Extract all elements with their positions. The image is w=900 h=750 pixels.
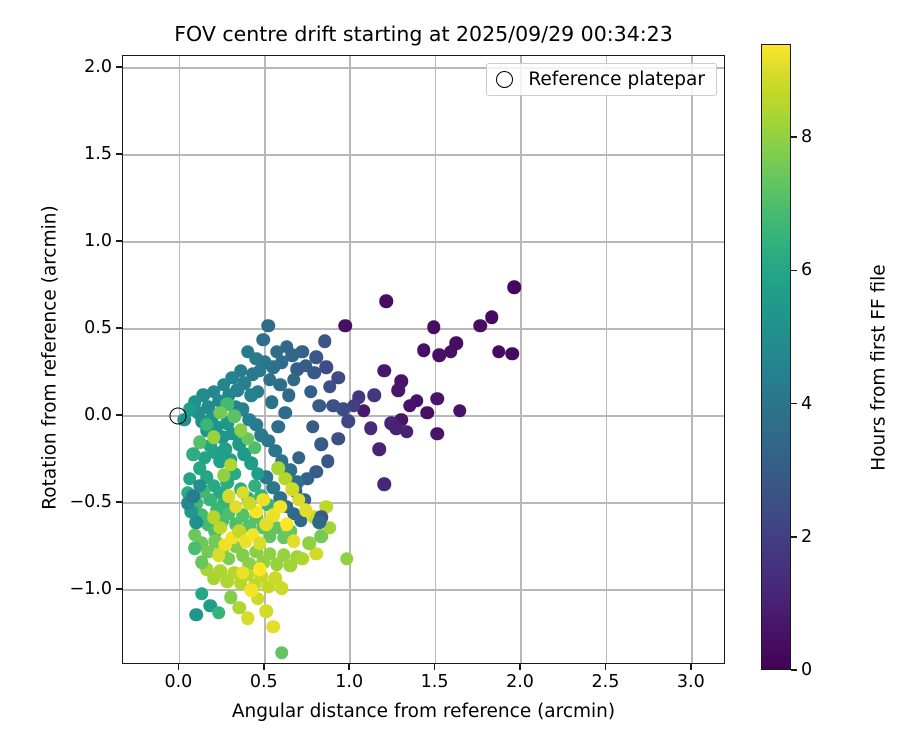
scatter-point: [417, 343, 431, 357]
scatter-point: [256, 493, 270, 507]
x-tick-2: [348, 664, 350, 670]
x-tick-6: [690, 664, 692, 670]
y-tick-label-2: 0.0: [84, 405, 112, 425]
scatter-point: [326, 399, 340, 413]
scatter-point: [364, 422, 378, 436]
scatter-point: [306, 420, 320, 434]
x-tick-0: [178, 664, 180, 670]
scatter-point: [186, 448, 200, 462]
plot-area: Reference platepar: [122, 55, 725, 664]
gridline-horizontal-3: [123, 328, 724, 330]
gridline-horizontal-5: [123, 154, 724, 156]
colorbar-tick-4: [791, 136, 797, 138]
scatter-point: [296, 552, 310, 566]
scatter-point: [200, 418, 214, 432]
x-tick-4: [519, 664, 521, 670]
y-tick-3: [116, 327, 122, 329]
scatter-point: [379, 295, 393, 309]
x-tick-label-2: 1.0: [335, 672, 363, 692]
colorbar-tick-0: [791, 669, 797, 671]
scatter-point: [304, 385, 318, 399]
scatter-point: [299, 503, 313, 517]
scatter-point: [243, 496, 257, 510]
scatter-point: [244, 583, 258, 597]
x-tick-label-3: 1.5: [421, 672, 449, 692]
scatter-point: [212, 549, 226, 563]
scatter-point: [261, 319, 275, 333]
y-tick-label-3: 0.5: [84, 318, 112, 338]
legend[interactable]: Reference platepar: [486, 63, 717, 96]
scatter-point: [378, 477, 392, 491]
scatter-point: [195, 556, 209, 570]
colorbar-tick-label-1: 2: [801, 527, 812, 547]
scatter-point: [287, 373, 301, 387]
scatter-point: [280, 517, 294, 531]
scatter-point: [236, 566, 250, 580]
colorbar-tick-label-2: 4: [801, 394, 812, 414]
y-tick-1: [116, 501, 122, 503]
x-tick-1: [263, 664, 265, 670]
colorbar: [761, 44, 791, 670]
gridline-horizontal-0: [123, 589, 724, 591]
scatter-point: [265, 396, 279, 410]
scatter-point: [314, 437, 328, 451]
scatter-point: [318, 335, 332, 349]
scatter-point: [260, 604, 274, 618]
x-tick-label-0: 0.0: [164, 672, 192, 692]
colorbar-tick-2: [791, 403, 797, 405]
y-tick-0: [116, 588, 122, 590]
scatter-point: [431, 392, 445, 406]
scatter-point: [227, 409, 241, 423]
scatter-point: [391, 383, 405, 397]
scatter-point: [270, 345, 284, 359]
scatter-point: [485, 310, 499, 324]
scatter-point: [400, 425, 414, 439]
scatter-point: [272, 420, 286, 434]
scatter-point: [507, 281, 521, 295]
scatter-point: [287, 535, 301, 549]
scatter-point: [427, 321, 441, 335]
scatter-point: [253, 536, 267, 550]
scatter-point: [372, 442, 386, 456]
scatter-point: [273, 500, 287, 514]
scatter-point: [321, 455, 335, 469]
x-tick-label-6: 3.0: [677, 672, 705, 692]
reference-platepar-marker: [169, 408, 186, 425]
scatter-point: [431, 427, 445, 441]
x-tick-3: [434, 664, 436, 670]
gridline-vertical-4: [520, 56, 522, 663]
scatter-point: [403, 399, 417, 413]
scatter-point: [207, 430, 221, 444]
scatter-point: [190, 608, 204, 622]
scatter-point: [241, 345, 255, 359]
scatter-point: [256, 333, 270, 347]
scatter-point: [420, 406, 434, 420]
scatter-point: [279, 406, 293, 420]
scatter-point: [234, 423, 248, 437]
x-axis-label: Angular distance from reference (arcmin): [122, 701, 725, 722]
scatter-point: [292, 451, 306, 465]
colorbar-tick-label-0: 0: [801, 660, 812, 680]
scatter-point: [320, 361, 334, 375]
scatter-point: [453, 404, 467, 418]
legend-open-circle-icon: [496, 71, 513, 88]
scatter-point: [338, 319, 352, 333]
y-tick-4: [116, 240, 122, 242]
y-tick-label-5: 1.5: [84, 144, 112, 164]
scatter-point: [188, 542, 202, 556]
scatter-point: [323, 380, 337, 394]
colorbar-tick-3: [791, 270, 797, 272]
gridline-vertical-2: [349, 56, 351, 663]
y-tick-5: [116, 153, 122, 155]
scatter-point: [378, 364, 392, 378]
y-tick-label-1: −0.5: [70, 492, 113, 512]
y-tick-2: [116, 414, 122, 416]
scatter-point: [342, 415, 356, 429]
gridline-vertical-0: [179, 56, 181, 663]
gridline-horizontal-4: [123, 241, 724, 243]
y-tick-label-0: −1.0: [70, 579, 113, 599]
x-tick-5: [605, 664, 607, 670]
scatter-point: [473, 319, 487, 333]
y-tick-6: [116, 66, 122, 68]
gridline-vertical-5: [606, 56, 608, 663]
scatter-point: [241, 611, 255, 625]
scatter-point: [367, 389, 381, 403]
colorbar-gradient: [762, 45, 790, 669]
y-tick-label-4: 1.0: [84, 231, 112, 251]
scatter-point: [267, 620, 281, 634]
colorbar-tick-1: [791, 536, 797, 538]
scatter-point: [244, 389, 258, 403]
y-tick-label-6: 2.0: [84, 57, 112, 77]
scatter-point: [313, 516, 327, 530]
scatter-point: [193, 479, 207, 493]
scatter-point: [222, 489, 236, 503]
scatter-point: [212, 606, 226, 620]
scatter-point: [224, 458, 238, 472]
gridline-vertical-6: [691, 56, 693, 663]
scatter-point: [331, 432, 345, 446]
scatter-point: [207, 510, 221, 524]
x-tick-label-5: 2.5: [592, 672, 620, 692]
scatter-point: [275, 646, 289, 660]
scatter-point: [253, 563, 267, 577]
y-axis-label: Rotation from reference (arcmin): [40, 48, 61, 668]
scatter-point: [340, 552, 354, 566]
colorbar-tick-label-4: 8: [801, 127, 812, 147]
scatter-point: [492, 345, 506, 359]
x-tick-label-4: 2.0: [506, 672, 534, 692]
scatter-point: [190, 516, 204, 530]
colorbar-label: Hours from first FF file: [869, 55, 890, 681]
scatter-point: [506, 347, 520, 361]
legend-item-label: Reference platepar: [528, 69, 705, 90]
scatter-point: [195, 587, 209, 601]
page-title: FOV centre drift starting at 2025/09/29 …: [122, 22, 725, 46]
figure-canvas: FOV centre drift starting at 2025/09/29 …: [0, 0, 900, 750]
scatter-point: [444, 345, 458, 359]
x-tick-label-1: 0.5: [250, 672, 278, 692]
colorbar-tick-label-3: 6: [801, 260, 812, 280]
scatter-point: [214, 406, 228, 420]
scatter-point: [275, 582, 289, 596]
scatter-point: [313, 399, 327, 413]
